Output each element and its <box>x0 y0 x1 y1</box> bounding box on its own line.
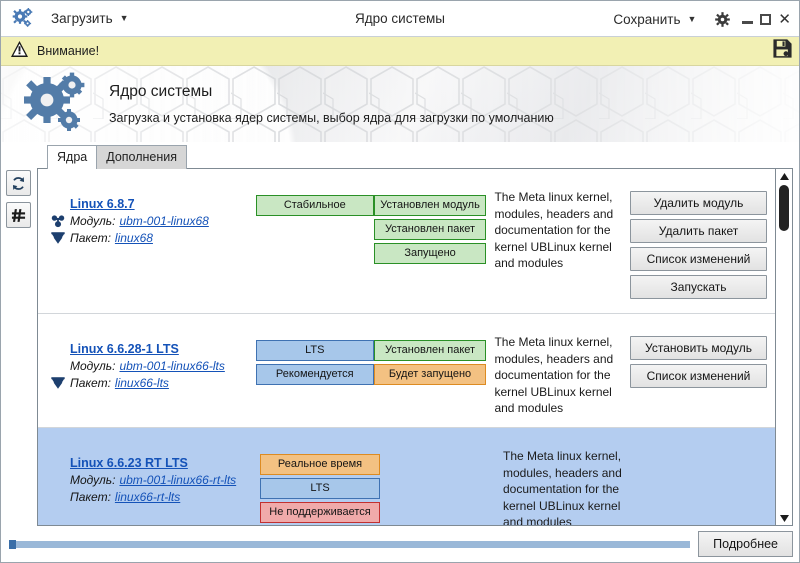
status-badge: LTS <box>256 340 374 361</box>
floppy-save-icon[interactable] <box>772 38 793 64</box>
status-badge: Будет запущено <box>374 364 487 385</box>
package-icon <box>46 376 70 390</box>
details-button[interactable]: Подробнее <box>698 531 793 557</box>
status-badge: Стабильное <box>256 195 374 216</box>
hero-title: Ядро системы <box>109 83 554 101</box>
kernel-name-link[interactable]: Linux 6.6.28-1 LTS <box>70 342 179 356</box>
scrollbar-thumb[interactable] <box>779 185 789 231</box>
module-label: Модуль: <box>70 214 115 228</box>
tab-addons[interactable]: Дополнения <box>96 145 187 169</box>
package-label: Пакет: <box>70 231 111 245</box>
status-badge: Установлен пакет <box>374 219 487 240</box>
kernel-tags-left: Реальное время LTS Не поддерживается <box>260 428 380 525</box>
warning-text: Внимание! <box>37 44 772 58</box>
titlebar-right-group: Сохранить ▼ <box>607 1 793 37</box>
warning-triangle-icon <box>10 40 29 63</box>
kernel-list-panel: Linux 6.8.7 <box>37 168 793 526</box>
app-logo-gears-icon <box>1 7 45 31</box>
module-value-link[interactable]: ubm-001-linux66-lts <box>119 359 224 373</box>
progress-fill <box>9 540 16 549</box>
kernel-tags-right <box>380 428 495 525</box>
kernel-actions: Установить модуль Список изменений <box>626 314 775 427</box>
kernel-description: The Meta linux kernel, modules, headers … <box>486 169 626 313</box>
kernel-info: Linux 6.8.7 <box>38 169 256 313</box>
status-badge: Установлен пакет <box>374 340 487 361</box>
table-row[interactable]: Linux 6.6.23 RT LTS Модуль: ubm-001-linu… <box>38 428 775 525</box>
table-row[interactable]: Linux 6.8.7 <box>38 169 775 314</box>
window-controls: ✕ <box>742 14 793 25</box>
save-menu-label: Сохранить <box>613 12 680 27</box>
minimize-icon[interactable] <box>742 21 753 24</box>
changelog-button[interactable]: Список изменений <box>630 364 767 388</box>
run-button[interactable]: Запускать <box>630 275 767 299</box>
tab-addons-label: Дополнения <box>106 150 177 164</box>
warning-bar: Внимание! <box>1 37 799 66</box>
kernel-name-link[interactable]: Linux 6.8.7 <box>70 197 135 211</box>
kernel-list: Linux 6.8.7 <box>38 169 775 525</box>
kernel-tags-left: LTS Рекомендуется <box>256 314 374 427</box>
module-icon <box>46 214 70 228</box>
package-label: Пакет: <box>70 490 111 504</box>
status-badge: LTS <box>260 478 380 499</box>
maximize-icon[interactable] <box>760 14 771 25</box>
hash-button[interactable] <box>6 202 31 228</box>
refresh-button[interactable] <box>6 170 31 196</box>
kernel-description: The Meta linux kernel, modules, headers … <box>495 428 637 525</box>
status-badge: Запущено <box>374 243 487 264</box>
hero-gears-icon <box>15 71 101 137</box>
tab-kernels-label: Ядра <box>57 150 87 164</box>
install-module-button[interactable]: Установить модуль <box>630 336 767 360</box>
triangle-up-icon[interactable] <box>776 169 792 183</box>
scrollbar-track[interactable] <box>776 183 792 511</box>
triangle-down-icon[interactable] <box>776 511 792 525</box>
kernel-info: Linux 6.6.28-1 LTS Модуль: ubm-001-linux… <box>38 314 256 427</box>
tab-kernels[interactable]: Ядра <box>47 145 97 169</box>
refresh-icon <box>11 176 26 191</box>
description-text: The Meta linux kernel, modules, headers … <box>494 334 620 417</box>
kernel-tags-left: Стабильное <box>256 169 374 313</box>
remove-module-button[interactable]: Удалить модуль <box>630 191 767 215</box>
status-badge: Реальное время <box>260 454 380 475</box>
module-label: Модуль: <box>70 359 115 373</box>
package-value-link[interactable]: linux66-lts <box>115 376 169 390</box>
kernel-manager-window: Загрузить ▼ Ядро системы Сохранить ▼ <box>0 0 800 563</box>
status-badge: Рекомендуется <box>256 364 374 385</box>
description-text: The Meta linux kernel, modules, headers … <box>494 189 620 272</box>
remove-package-button[interactable]: Удалить пакет <box>630 219 767 243</box>
kernel-description: The Meta linux kernel, modules, headers … <box>486 314 626 427</box>
load-menu-button[interactable]: Загрузить ▼ <box>45 9 135 28</box>
titlebar: Загрузить ▼ Ядро системы Сохранить ▼ <box>1 1 799 37</box>
vertical-scrollbar[interactable] <box>775 169 792 525</box>
side-toolbar <box>6 170 33 234</box>
progress-bar <box>9 540 690 548</box>
tab-bar: Ядра Дополнения <box>47 145 186 169</box>
description-text: The Meta linux kernel, modules, headers … <box>503 448 631 525</box>
status-badge: Не поддерживается <box>260 502 380 523</box>
hash-icon <box>11 208 26 223</box>
load-menu-label: Загрузить <box>51 11 113 26</box>
changelog-button[interactable]: Список изменений <box>630 247 767 271</box>
chevron-down-icon: ▼ <box>120 14 129 23</box>
close-icon[interactable]: ✕ <box>778 14 791 25</box>
kernel-actions: Удалить модуль Удалить пакет Список изме… <box>626 169 775 313</box>
kernel-tags-right: Установлен пакет Будет запущено <box>374 314 487 427</box>
save-menu-button[interactable]: Сохранить ▼ <box>607 10 702 29</box>
chevron-down-icon: ▼ <box>688 15 697 24</box>
package-label: Пакет: <box>70 376 111 390</box>
status-bar: Подробнее <box>1 526 799 562</box>
table-row[interactable]: Linux 6.6.28-1 LTS Модуль: ubm-001-linux… <box>38 314 775 428</box>
kernel-actions <box>637 428 775 525</box>
kernel-name-link[interactable]: Linux 6.6.23 RT LTS <box>70 456 188 470</box>
progress-track <box>9 541 690 548</box>
kernel-tags-right: Установлен модуль Установлен пакет Запущ… <box>374 169 487 313</box>
settings-gear-icon[interactable] <box>712 9 732 29</box>
hero-subtitle: Загрузка и установка ядер системы, выбор… <box>109 111 554 125</box>
hero-banner: Ядро системы Загрузка и установка ядер с… <box>1 66 799 142</box>
module-value-link[interactable]: ubm-001-linux68 <box>119 214 208 228</box>
status-badge: Установлен модуль <box>374 195 487 216</box>
package-icon <box>46 231 70 245</box>
kernel-info: Linux 6.6.23 RT LTS Модуль: ubm-001-linu… <box>38 428 260 525</box>
package-value-link[interactable]: linux68 <box>115 231 153 245</box>
module-value-link[interactable]: ubm-001-linux66-rt-lts <box>119 473 236 487</box>
module-label: Модуль: <box>70 473 115 487</box>
package-value-link[interactable]: linux66-rt-lts <box>115 490 180 504</box>
